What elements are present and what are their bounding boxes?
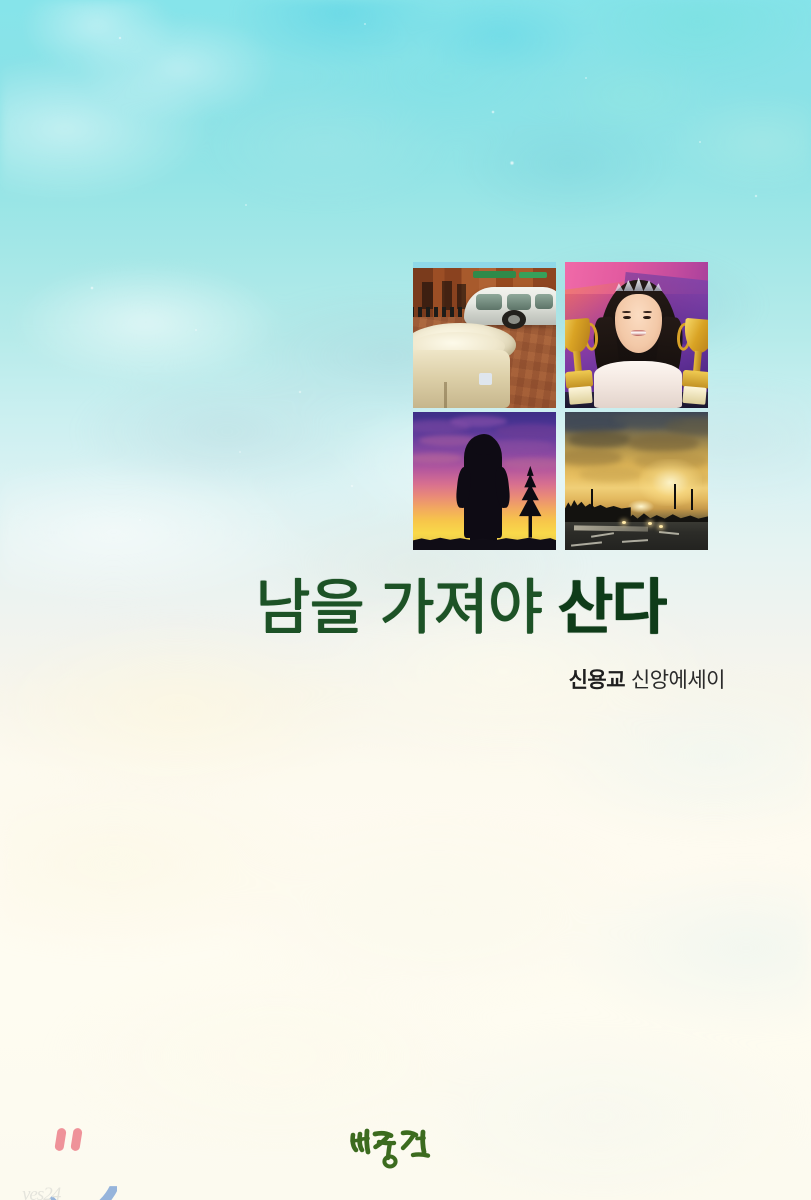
car-window	[535, 294, 553, 308]
car-window	[476, 294, 502, 311]
cloud	[568, 431, 631, 448]
gold-trophy-left	[565, 317, 600, 405]
book-genre-label: 신앙에세이	[631, 669, 725, 692]
eyebrow	[622, 311, 631, 313]
photo-collage	[413, 262, 712, 563]
trophy-stem	[573, 351, 582, 374]
trophy-nameplate	[568, 386, 593, 405]
cloud	[665, 418, 708, 436]
cup-seam	[444, 382, 447, 408]
setting-sun	[628, 500, 654, 512]
pine-tree-silhouette	[509, 466, 552, 538]
lane-marking	[659, 531, 679, 535]
cloud	[496, 424, 556, 438]
person-legs	[470, 511, 497, 541]
green-awning-icon	[473, 271, 516, 278]
lane-marking	[622, 539, 648, 543]
smiling-mouth	[631, 330, 647, 335]
eyebrow	[643, 311, 652, 313]
girl-white-dress	[594, 361, 683, 408]
title-first-phrase: 남을 가져야	[255, 574, 542, 641]
title-emphasis-phrase: 산다	[557, 574, 665, 641]
author-name: 신용교	[569, 669, 625, 692]
subtitle: 신용교 신앙에세이	[255, 668, 725, 693]
car-tire	[502, 310, 526, 329]
coffee-cup-body	[413, 350, 510, 408]
cloud	[450, 416, 507, 427]
person-head-silhouette	[472, 434, 496, 455]
title-space	[542, 574, 558, 641]
eye	[623, 316, 631, 319]
window	[422, 282, 433, 308]
utility-pole	[674, 484, 676, 509]
smiley-eye-left-icon	[54, 1127, 66, 1151]
utility-pole	[691, 489, 693, 510]
gold-trophy-right	[676, 317, 708, 405]
eye	[643, 316, 651, 319]
trophy-stem	[693, 351, 702, 374]
page-title: 남을 가져야 산다	[255, 578, 725, 648]
cloud	[413, 453, 462, 463]
trophy-nameplate	[682, 386, 707, 405]
yes24-watermark: yes24	[22, 1128, 120, 1192]
lane-marking	[571, 542, 602, 547]
smiley-eye-right-icon	[70, 1127, 82, 1151]
lane-marking	[591, 532, 614, 538]
photo-highway-sunset	[565, 412, 708, 550]
window	[457, 284, 466, 309]
cloud	[579, 467, 642, 482]
cloud	[502, 458, 556, 469]
yes24-label: yes24	[22, 1184, 60, 1200]
car-window	[507, 294, 531, 311]
photo-coffee-cup-and-car	[413, 262, 556, 408]
utility-pole	[591, 489, 593, 508]
book-cover: 남을 가져야 산다 신용교 신앙에세이	[0, 0, 811, 1200]
cup-label	[479, 373, 492, 385]
publisher-logo	[349, 1119, 469, 1171]
window	[442, 281, 452, 310]
green-awning-second-icon	[519, 272, 548, 278]
photo-sunset-silhouette	[413, 412, 556, 550]
sun-glow	[639, 459, 702, 506]
cloud	[628, 434, 700, 452]
cloud	[565, 449, 622, 466]
photo-girl-with-trophies	[565, 262, 708, 408]
